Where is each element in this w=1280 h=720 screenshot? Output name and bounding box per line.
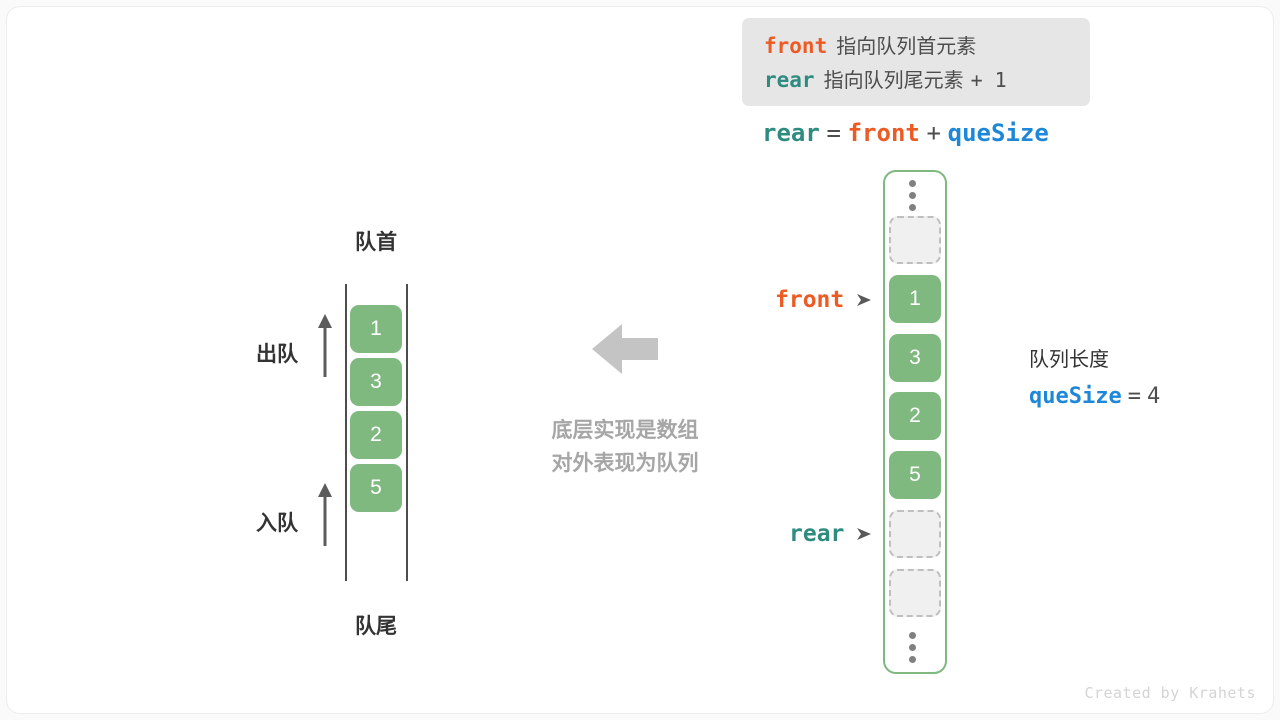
enqueue-label: 入队 bbox=[256, 507, 298, 537]
array-slot-empty bbox=[889, 569, 941, 617]
array-slot-filled: 2 bbox=[889, 392, 941, 440]
legend-rear-text: 指向队列尾元素 bbox=[824, 70, 964, 92]
queue-size-expression: queSize=4 bbox=[1029, 384, 1160, 409]
front-pointer-caret-icon bbox=[857, 292, 873, 308]
formula-front: front bbox=[848, 119, 920, 147]
diagram-canvas: front指向队列首元素 rear指向队列尾元素+ 1 rear = front… bbox=[0, 0, 1280, 720]
rear-pointer-label: rear bbox=[789, 521, 844, 547]
array-ellipsis-bottom bbox=[909, 632, 917, 668]
legend-box: front指向队列首元素 rear指向队列尾元素+ 1 bbox=[742, 18, 1090, 106]
enqueue-arrow-icon bbox=[314, 482, 336, 547]
quesize-equals: = bbox=[1128, 384, 1141, 409]
queue-head-label: 队首 bbox=[345, 226, 407, 256]
array-slot-empty bbox=[889, 216, 941, 264]
queue-size-note: 队列长度 queSize=4 bbox=[1029, 343, 1160, 409]
array-slot-filled: 1 bbox=[889, 275, 941, 323]
queue-cell: 3 bbox=[350, 358, 402, 406]
rear-pointer-caret-icon bbox=[857, 526, 873, 542]
legend-rear-keyword: rear bbox=[764, 68, 815, 92]
formula-quesize: queSize bbox=[948, 119, 1049, 147]
middle-caption-line1: 底层实现是数组 bbox=[520, 414, 730, 447]
formula-rear: rear bbox=[762, 119, 820, 147]
queue-cell: 1 bbox=[350, 305, 402, 353]
quesize-name: queSize bbox=[1029, 384, 1122, 409]
quesize-value: 4 bbox=[1147, 384, 1160, 409]
queue-rail-right bbox=[406, 284, 408, 581]
middle-caption-line2: 对外表现为队列 bbox=[520, 447, 730, 480]
credit-text: Created by Krahets bbox=[1084, 684, 1256, 702]
legend-front-text: 指向队列首元素 bbox=[836, 36, 976, 58]
array-slot-empty bbox=[889, 510, 941, 558]
left-arrow-icon bbox=[592, 322, 658, 376]
queue-cell: 5 bbox=[350, 464, 402, 512]
formula-plus: + bbox=[927, 119, 941, 147]
queue-rail-left bbox=[345, 284, 347, 581]
legend-line-front: front指向队列首元素 bbox=[764, 36, 976, 57]
array-slot-filled: 5 bbox=[889, 451, 941, 499]
middle-caption: 底层实现是数组 对外表现为队列 bbox=[520, 414, 730, 480]
array-ellipsis-top bbox=[909, 180, 917, 216]
front-pointer-label: front bbox=[775, 287, 844, 313]
pointer-formula: rear = front + queSize bbox=[762, 120, 1049, 147]
dequeue-label: 出队 bbox=[256, 338, 298, 368]
queue-cell: 2 bbox=[350, 411, 402, 459]
dequeue-arrow-icon bbox=[314, 313, 336, 378]
formula-equals: = bbox=[826, 119, 840, 147]
legend-front-keyword: front bbox=[764, 34, 827, 58]
queue-size-title: 队列长度 bbox=[1029, 343, 1160, 372]
queue-tail-label: 队尾 bbox=[345, 610, 407, 640]
array-slot-filled: 3 bbox=[889, 334, 941, 382]
legend-rear-suffix: + 1 bbox=[971, 68, 1007, 92]
legend-line-rear: rear指向队列尾元素+ 1 bbox=[764, 70, 1007, 91]
